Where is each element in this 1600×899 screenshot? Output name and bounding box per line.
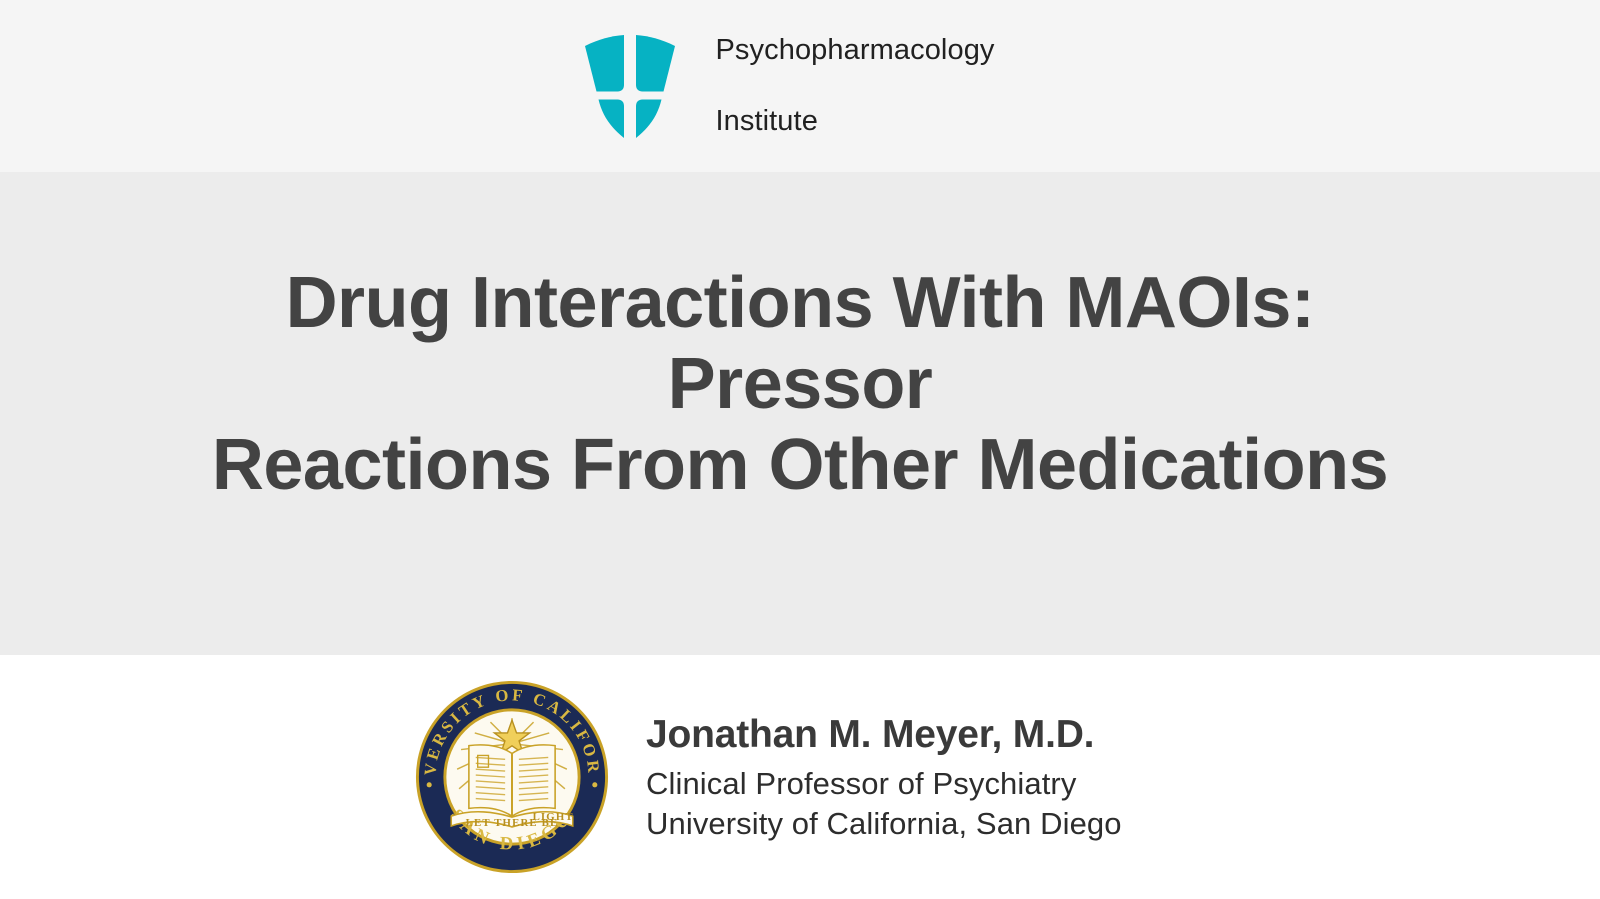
brand-name: Psychopharmacology Institute	[715, 0, 994, 174]
shield-cross-icon	[581, 30, 679, 142]
presenter-role: Clinical Professor of Psychiatry	[646, 764, 1122, 804]
header-band: Psychopharmacology Institute	[0, 0, 1600, 172]
slide-title: Drug Interactions With MAOIs: Pressor Re…	[150, 263, 1450, 505]
presenter-block: UNIVERSITY OF CALIFORNIA SAN DIEGO	[414, 679, 1122, 875]
brand-name-line-2: Institute	[715, 104, 994, 139]
footer-band: UNIVERSITY OF CALIFORNIA SAN DIEGO	[0, 655, 1600, 899]
slide-title-line-1: Drug Interactions With MAOIs: Pressor	[286, 263, 1315, 424]
slide-title-line-2: Reactions From Other Medications	[212, 425, 1388, 505]
brand-name-line-1: Psychopharmacology	[715, 33, 994, 68]
presenter-name: Jonathan M. Meyer, M.D.	[646, 712, 1122, 758]
brand-lockup: Psychopharmacology Institute	[581, 0, 994, 174]
svg-text:LIGHT: LIGHT	[533, 811, 574, 823]
presenter-info: Jonathan M. Meyer, M.D. Clinical Profess…	[646, 712, 1122, 845]
title-slide: Psychopharmacology Institute Drug Intera…	[0, 0, 1600, 899]
ucsd-seal-icon: UNIVERSITY OF CALIFORNIA SAN DIEGO	[414, 679, 610, 875]
presenter-organization: University of California, San Diego	[646, 804, 1122, 844]
title-band: Drug Interactions With MAOIs: Pressor Re…	[0, 172, 1600, 655]
